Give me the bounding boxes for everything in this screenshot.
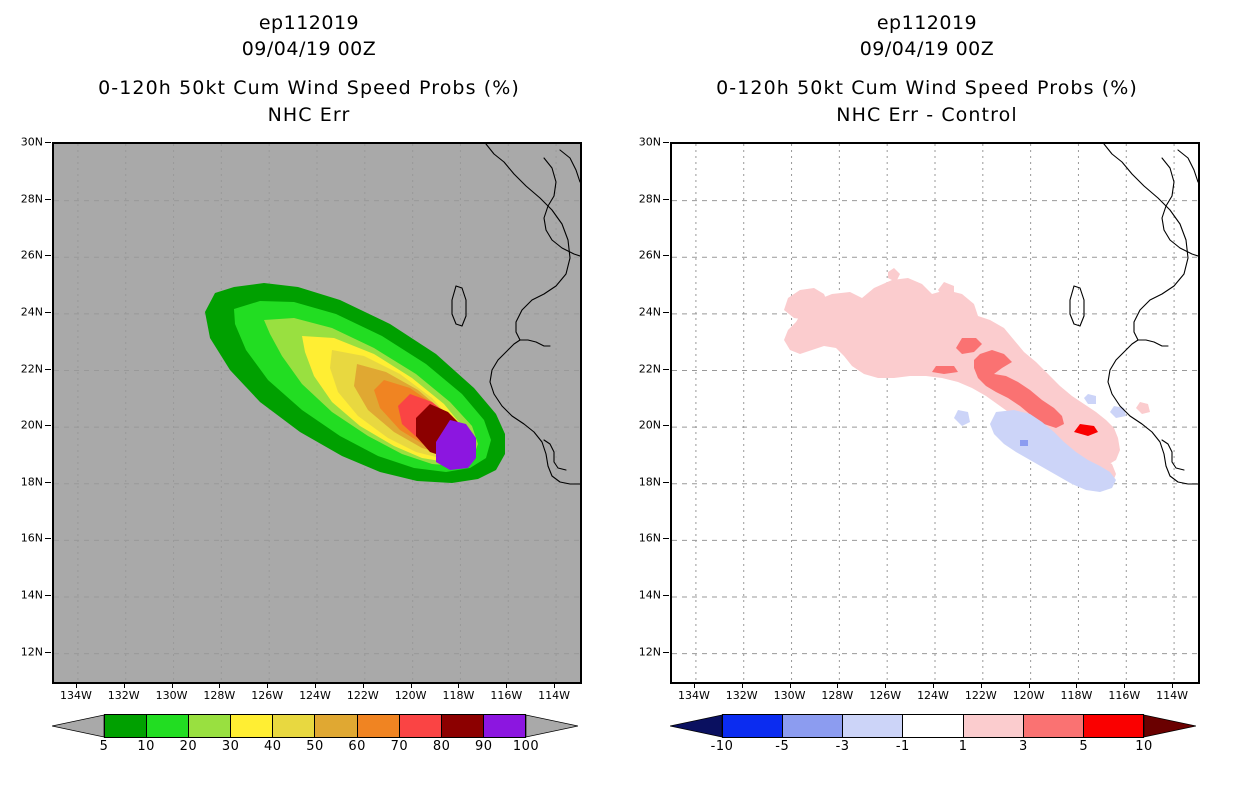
left-title-line2: NHC Err [0,102,618,129]
x-tick-mark [1076,682,1077,688]
right-title-line2: NHC Err - Control [618,102,1236,129]
y-tick-label: 12N [618,645,661,658]
colorbar-tick-label: 100 [513,739,539,754]
x-tick-label: 134W [60,689,92,702]
x-tick-label: 120W [395,689,427,702]
colorbar-tick-label: 90 [475,739,493,754]
x-tick-label: 122W [965,689,997,702]
right-map-axes [670,142,1200,684]
x-tick-label: 118W [1061,689,1093,702]
right-datetime: 09/04/19 00Z [618,36,1236,62]
x-tick-mark [363,682,364,688]
panel-nhc-err: ep112019 09/04/19 00Z 0-120h 50kt Cum Wi… [0,0,618,800]
right-colorbar-over-arrow [1144,714,1196,738]
x-tick-mark [837,682,838,688]
x-tick-label: 126W [869,689,901,702]
y-tick-mark [45,595,51,596]
colorbar-tick-label: 60 [348,739,366,754]
colorbar-cell [147,715,189,737]
x-tick-label: 134W [678,689,710,702]
y-tick-mark [663,595,669,596]
colorbar-cell [723,715,783,737]
colorbar-cell [400,715,442,737]
x-tick-mark [885,682,886,688]
y-tick-mark [663,652,669,653]
left-panel-title-block: ep112019 09/04/19 00Z 0-120h 50kt Cum Wi… [0,10,618,129]
left-colorbar: 5102030405060708090100 [52,714,578,760]
y-tick-label: 18N [0,475,43,488]
y-tick-mark [45,142,51,143]
x-tick-label: 124W [917,689,949,702]
x-tick-label: 114W [538,689,570,702]
x-tick-mark [1029,682,1030,688]
y-tick-label: 16N [0,532,43,545]
left-colorbar-bands [104,714,526,738]
y-tick-mark [663,199,669,200]
y-tick-label: 26N [618,249,661,262]
x-tick-label: 116W [490,689,522,702]
colorbar-cell [105,715,147,737]
y-tick-mark [45,312,51,313]
y-tick-mark [663,312,669,313]
y-tick-label: 20N [618,419,661,432]
right-colorbar-labels: -10-5-3-113510 [670,739,1196,759]
y-tick-label: 26N [0,249,43,262]
x-tick-mark [506,682,507,688]
colorbar-cell [442,715,484,737]
x-tick-label: 132W [108,689,140,702]
x-tick-mark [981,682,982,688]
y-tick-mark [663,538,669,539]
x-tick-label: 114W [1156,689,1188,702]
y-tick-label: 14N [618,589,661,602]
right-panel-title-block: ep112019 09/04/19 00Z 0-120h 50kt Cum Wi… [618,10,1236,129]
right-colorbar-under-arrow [670,714,722,738]
y-tick-mark [45,538,51,539]
x-tick-mark [219,682,220,688]
x-tick-label: 130W [156,689,188,702]
x-tick-mark [790,682,791,688]
colorbar-cell [315,715,357,737]
colorbar-cell [843,715,903,737]
x-tick-mark [1172,682,1173,688]
colorbar-cell [231,715,273,737]
y-tick-label: 22N [618,362,661,375]
colorbar-cell [189,715,231,737]
x-tick-mark [1124,682,1125,688]
x-tick-mark [411,682,412,688]
colorbar-tick-label: -3 [836,739,850,754]
colorbar-tick-label: 10 [1135,739,1153,754]
y-tick-label: 14N [0,589,43,602]
x-tick-mark [172,682,173,688]
x-tick-label: 128W [203,689,235,702]
y-tick-label: 30N [0,136,43,149]
x-tick-label: 130W [774,689,806,702]
x-tick-mark [554,682,555,688]
colorbar-tick-label: 80 [433,739,451,754]
left-colorbar-labels: 5102030405060708090100 [52,739,578,759]
colorbar-tick-label: 1 [959,739,968,754]
y-tick-mark [45,369,51,370]
colorbar-tick-label: 40 [264,739,282,754]
x-tick-label: 124W [299,689,331,702]
x-tick-label: 132W [726,689,758,702]
y-tick-mark [663,482,669,483]
y-tick-label: 28N [0,192,43,205]
colorbar-cell [903,715,963,737]
right-colorbar-bands [722,714,1144,738]
x-tick-mark [458,682,459,688]
colorbar-cell [783,715,843,737]
colorbar-tick-label: 5 [1079,739,1088,754]
right-coastline [672,144,1198,682]
colorbar-cell [358,715,400,737]
y-tick-mark [663,425,669,426]
y-tick-label: 24N [0,305,43,318]
panel-nhc-err-minus-control: ep112019 09/04/19 00Z 0-120h 50kt Cum Wi… [618,0,1236,800]
x-tick-label: 126W [251,689,283,702]
left-map-axes [52,142,582,684]
y-tick-mark [45,652,51,653]
left-title-line1: 0-120h 50kt Cum Wind Speed Probs (%) [0,75,618,102]
x-tick-mark [315,682,316,688]
y-tick-mark [45,482,51,483]
colorbar-cell [273,715,315,737]
y-tick-label: 24N [618,305,661,318]
colorbar-cell [1024,715,1084,737]
x-tick-label: 122W [347,689,379,702]
colorbar-tick-label: 20 [180,739,198,754]
y-tick-label: 28N [618,192,661,205]
left-colorbar-under-arrow [52,714,104,738]
right-title-line1: 0-120h 50kt Cum Wind Speed Probs (%) [618,75,1236,102]
colorbar-cell [964,715,1024,737]
y-tick-label: 20N [0,419,43,432]
x-tick-mark [742,682,743,688]
colorbar-tick-label: -10 [711,739,734,754]
x-tick-mark [933,682,934,688]
left-storm-id: ep112019 [0,10,618,36]
colorbar-tick-label: 50 [306,739,324,754]
y-tick-label: 30N [618,136,661,149]
y-tick-mark [45,199,51,200]
colorbar-cell [484,715,525,737]
x-tick-label: 120W [1013,689,1045,702]
colorbar-tick-label: 10 [137,739,155,754]
figure-canvas: ep112019 09/04/19 00Z 0-120h 50kt Cum Wi… [0,0,1236,800]
left-colorbar-over-arrow [526,714,578,738]
x-tick-label: 116W [1108,689,1140,702]
x-tick-mark [694,682,695,688]
right-storm-id: ep112019 [618,10,1236,36]
y-tick-label: 16N [618,532,661,545]
colorbar-cell [1084,715,1143,737]
y-tick-label: 22N [0,362,43,375]
y-tick-mark [663,142,669,143]
x-tick-mark [267,682,268,688]
x-tick-mark [124,682,125,688]
y-tick-label: 12N [0,645,43,658]
colorbar-tick-label: -1 [896,739,910,754]
colorbar-tick-label: 30 [222,739,240,754]
colorbar-tick-label: 70 [391,739,409,754]
colorbar-tick-label: 3 [1019,739,1028,754]
left-coastline [54,144,580,682]
right-colorbar: -10-5-3-113510 [670,714,1196,760]
y-tick-mark [663,369,669,370]
colorbar-tick-label: 5 [100,739,109,754]
x-tick-mark [76,682,77,688]
y-tick-mark [45,255,51,256]
x-tick-label: 118W [443,689,475,702]
y-tick-label: 18N [618,475,661,488]
y-tick-mark [45,425,51,426]
x-tick-label: 128W [821,689,853,702]
left-datetime: 09/04/19 00Z [0,36,618,62]
colorbar-tick-label: -5 [775,739,789,754]
y-tick-mark [663,255,669,256]
